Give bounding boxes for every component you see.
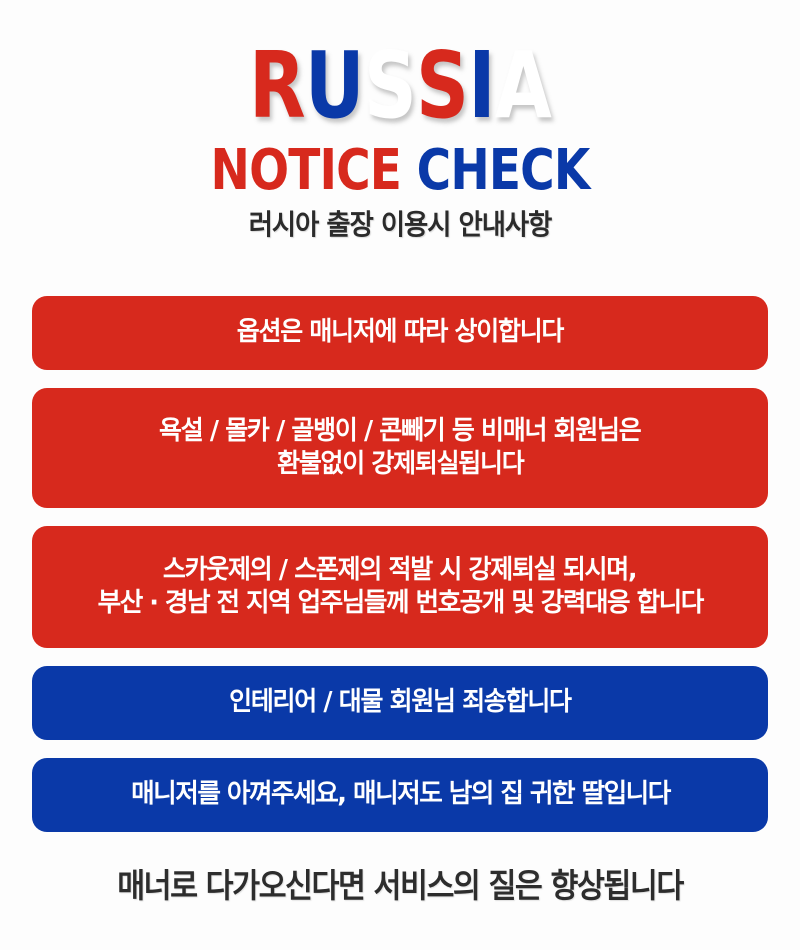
notice-line: 인테리어 / 대물 회원님 죄송합니다 <box>229 686 571 719</box>
korean-subtitle: 러시아 출장 이용시 안내사항 <box>24 210 776 241</box>
subwordmark-check: CHECK <box>417 138 590 203</box>
notice-box-2: 욕설 / 몰카 / 골뱅이 / 콘빼기 등 비매너 회원님은 환불없이 강제퇴실… <box>32 388 768 508</box>
notice-line: 스카웃제의 / 스폰제의 적발 시 강제퇴실 되시며, <box>163 554 636 587</box>
notice-box-5: 매니저를 아껴주세요, 매니저도 남의 집 귀한 딸입니다 <box>32 758 768 832</box>
notice-line: 부산 · 경남 전 지역 업주님들께 번호공개 및 강력대응 합니다 <box>97 587 702 620</box>
notice-box-1: 옵션은 매니저에 따라 상이합니다 <box>32 296 768 370</box>
notice-line: 매니저를 아껴주세요, 매니저도 남의 집 귀한 딸입니다 <box>131 778 670 811</box>
notice-line: 옵션은 매니저에 따라 상이합니다 <box>237 316 563 349</box>
notice-box-3: 스카웃제의 / 스폰제의 적발 시 강제퇴실 되시며, 부산 · 경남 전 지역… <box>32 526 768 648</box>
wordmark-letter-3: S <box>364 44 416 129</box>
notice-line: 환불없이 강제퇴실됩니다 <box>277 448 523 481</box>
notice-list: 옵션은 매니저에 따라 상이합니다 욕설 / 몰카 / 골뱅이 / 콘빼기 등 … <box>32 296 768 850</box>
poster-footer: 매너로 다가오신다면 서비스의 질은 향상됩니다 <box>0 868 800 904</box>
footer-text: 매너로 다가오신다면 서비스의 질은 향상됩니다 <box>32 868 768 904</box>
notice-poster: RUSSIA NOTICE CHECK 러시아 출장 이용시 안내사항 옵션은 … <box>0 0 800 950</box>
wordmark-letter-6: A <box>495 44 551 129</box>
subwordmark-notice-check: NOTICE CHECK <box>64 143 736 199</box>
wordmark-letter-1: R <box>249 44 305 129</box>
subwordmark-notice: NOTICE <box>211 138 402 203</box>
wordmark-letter-5: I <box>468 44 495 129</box>
poster-header: RUSSIA NOTICE CHECK 러시아 출장 이용시 안내사항 <box>0 0 800 240</box>
wordmark-letter-2: U <box>305 44 364 129</box>
wordmark-russia: RUSSIA <box>80 44 720 129</box>
notice-box-4: 인테리어 / 대물 회원님 죄송합니다 <box>32 666 768 740</box>
notice-line: 욕설 / 몰카 / 골뱅이 / 콘빼기 등 비매너 회원님은 <box>159 415 640 448</box>
subwordmark-space <box>401 138 417 203</box>
wordmark-letter-4: S <box>416 44 468 129</box>
